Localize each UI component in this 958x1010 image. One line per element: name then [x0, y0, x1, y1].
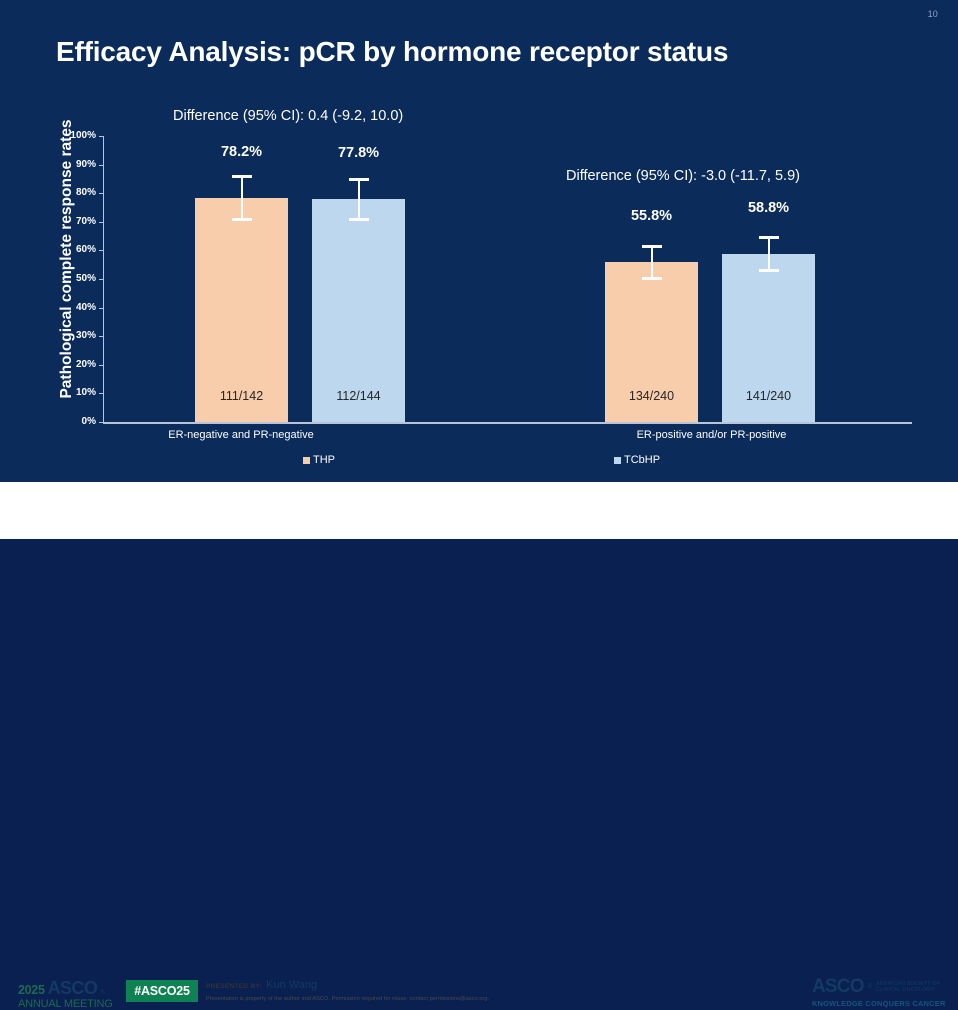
meeting-year: 2025	[18, 983, 45, 997]
y-tick-mark	[99, 308, 104, 309]
error-bar-cap	[349, 178, 369, 181]
bar-count-label: 112/144	[312, 389, 405, 403]
y-tick-mark	[99, 365, 104, 366]
y-tick-label: 50%	[50, 273, 96, 284]
presenter-name: Kun Wang	[266, 979, 317, 991]
y-tick-label: 100%	[50, 130, 96, 141]
bar-value-label: 77.8%	[312, 145, 405, 161]
y-tick-mark	[99, 336, 104, 337]
y-tick-label: 90%	[50, 159, 96, 170]
category-label-er-negative: ER-negative and PR-negative	[141, 429, 341, 441]
error-bar-cap	[349, 218, 369, 221]
presented-by-label: PRESENTED BY:	[206, 983, 262, 990]
legend-label-tcbhp: TCbHP	[624, 454, 660, 466]
y-axis-title: Pathological complete response rates	[58, 94, 76, 424]
bar-chart: Pathological complete response rates 100…	[0, 0, 958, 480]
brand-registered-mark-icon: ®	[868, 984, 872, 990]
brand-subtitle-line2: CLINICAL ONCOLOGY	[876, 987, 940, 994]
error-bar-cap	[232, 218, 252, 221]
x-axis-line	[103, 422, 912, 424]
bar-count-label: 141/240	[722, 389, 815, 403]
error-bar-line	[651, 245, 653, 280]
bar-value-label: 58.8%	[722, 200, 815, 216]
y-tick-mark	[99, 165, 104, 166]
y-tick-mark	[99, 422, 104, 423]
error-bar-cap	[759, 269, 779, 272]
y-tick-label: 40%	[50, 302, 96, 313]
error-bar-cap	[642, 245, 662, 248]
y-tick-label: 20%	[50, 359, 96, 370]
bar-count-label: 134/240	[605, 389, 698, 403]
difference-annotation-group-2: Difference (95% CI): -3.0 (-11.7, 5.9)	[566, 168, 800, 184]
y-tick-mark	[99, 193, 104, 194]
y-tick-label: 60%	[50, 244, 96, 255]
hashtag-badge[interactable]: #ASCO25	[126, 980, 198, 1002]
legend-label-thp: THP	[313, 454, 335, 466]
legend-entry-tcbhp[interactable]: TCbHP	[614, 454, 660, 466]
brand-asco-word: ASCO	[812, 976, 864, 998]
slide-canvas: 10 Efficacy Analysis: pCR by hormone rec…	[0, 0, 958, 539]
bar-value-label: 55.8%	[605, 208, 698, 224]
legend-entry-thp[interactable]: THP	[303, 454, 335, 466]
y-tick-mark	[99, 279, 104, 280]
error-bar-cap	[642, 277, 662, 280]
y-tick-label: 0%	[50, 416, 96, 427]
error-bar-cap	[232, 175, 252, 178]
footer-bar: 2025 ASCO ® ANNUAL MEETING #ASCO25 PRESE…	[0, 484, 958, 539]
y-tick-label: 70%	[50, 216, 96, 227]
error-bar-line	[768, 236, 770, 272]
y-tick-mark	[99, 250, 104, 251]
y-tick-label: 30%	[50, 330, 96, 341]
asco-brand-logo: ASCO ® AMERICAN SOCIETY OF CLINICAL ONCO…	[812, 976, 952, 1008]
category-label-er-positive: ER-positive and/or PR-positive	[604, 429, 819, 441]
presented-by: PRESENTED BY: Kun Wang	[206, 979, 317, 991]
error-bar-line	[241, 175, 243, 221]
legend-swatch-thp-icon	[303, 457, 310, 464]
y-tick-label: 80%	[50, 187, 96, 198]
y-tick-mark	[99, 136, 104, 137]
legend-swatch-tcbhp-icon	[614, 457, 621, 464]
permission-note: Presentation is property of the author a…	[206, 996, 489, 1002]
meeting-subtitle: ANNUAL MEETING	[18, 998, 123, 1010]
registered-mark-icon: ®	[100, 990, 104, 996]
y-tick-mark	[99, 222, 104, 223]
y-tick-mark	[99, 393, 104, 394]
bar-value-label: 78.2%	[195, 144, 288, 160]
y-tick-label: 10%	[50, 387, 96, 398]
asco-annual-meeting-logo: 2025 ASCO ® ANNUAL MEETING	[18, 978, 123, 1010]
difference-annotation-group-1: Difference (95% CI): 0.4 (-9.2, 10.0)	[173, 108, 403, 124]
error-bar-line	[358, 178, 360, 221]
brand-tagline: KNOWLEDGE CONQUERS CANCER	[812, 999, 952, 1008]
bar-count-label: 111/142	[195, 389, 288, 403]
meeting-asco-word: ASCO	[48, 978, 98, 999]
error-bar-cap	[759, 236, 779, 239]
